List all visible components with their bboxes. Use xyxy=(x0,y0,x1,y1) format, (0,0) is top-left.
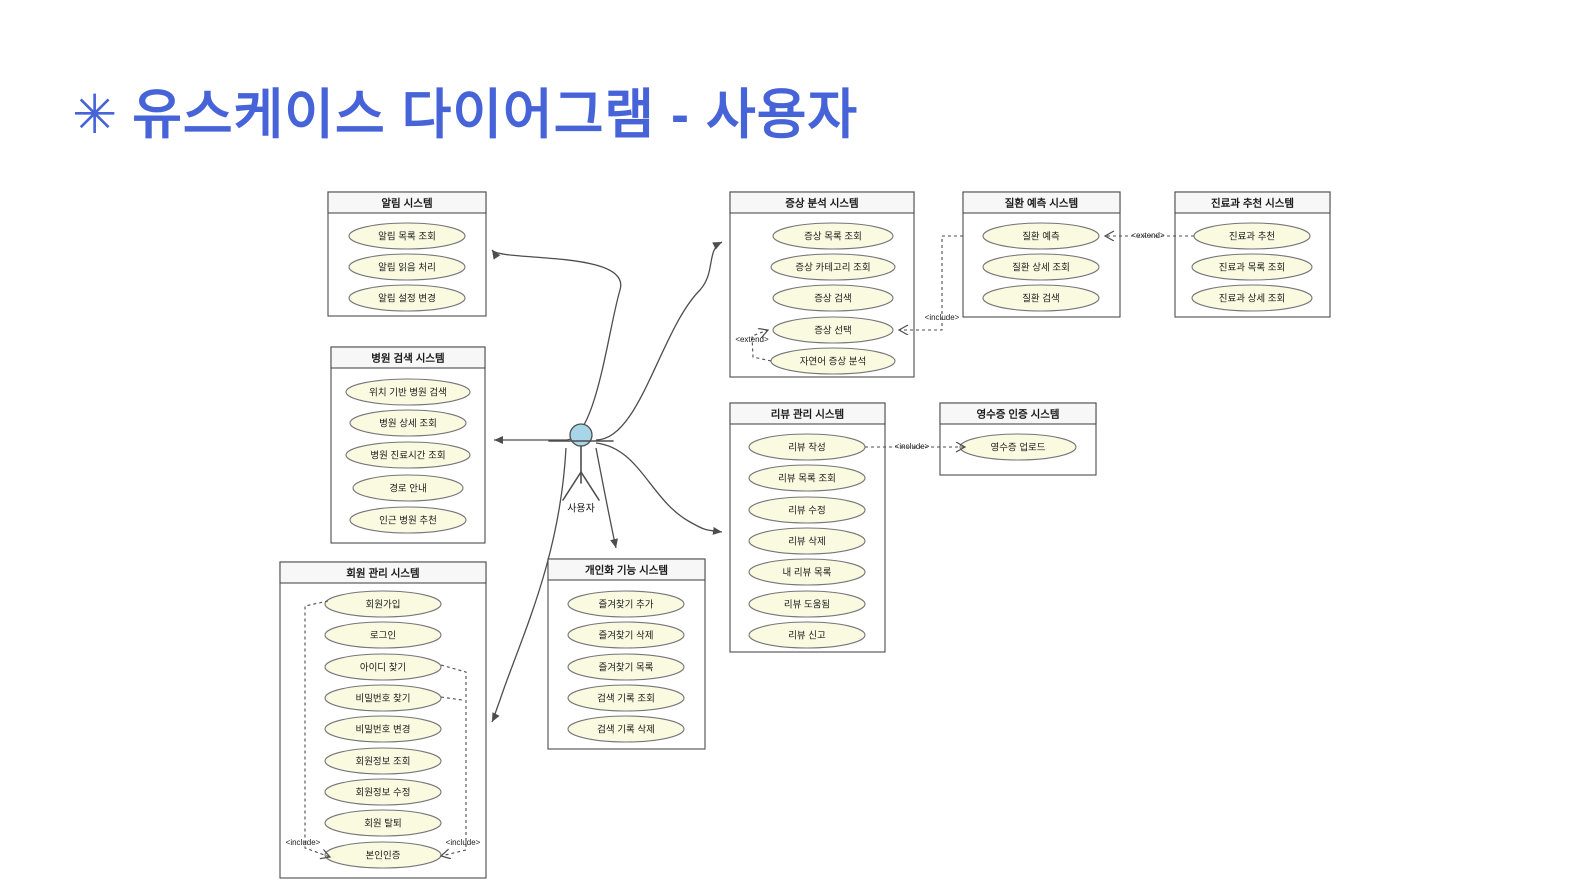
usecase-label: 리뷰 목록 조회 xyxy=(778,474,836,485)
stereotype-label-rel-include-disease-symptom: <include> xyxy=(925,313,960,322)
usecase-label: 아이디 찾기 xyxy=(360,663,406,674)
system-box-title-receipt-verification: 영수증 인증 시스템 xyxy=(976,407,1059,420)
usecase-diagram: 알림 시스템알림 목록 조회알림 읽음 처리알림 설정 변경병원 검색 시스템위… xyxy=(0,0,1591,888)
usecase-label: 로그인 xyxy=(370,631,396,642)
usecase-label: 병원 상세 조회 xyxy=(379,419,437,430)
system-box-disease-prediction: 질환 예측 시스템질환 예측질환 상세 조회질환 검색 xyxy=(963,192,1120,317)
usecase-department-recommendation-1[interactable]: 진료과 목록 조회 xyxy=(1192,254,1312,280)
usecase-label: 질환 예측 xyxy=(1022,231,1060,243)
usecase-notification-1[interactable]: 알림 읽음 처리 xyxy=(349,254,465,280)
system-box-notification: 알림 시스템알림 목록 조회알림 읽음 처리알림 설정 변경 xyxy=(328,192,486,316)
usecase-review-management-3[interactable]: 리뷰 삭제 xyxy=(749,528,865,554)
system-box-review-management: 리뷰 관리 시스템리뷰 작성리뷰 목록 조회리뷰 수정리뷰 삭제내 리뷰 목록리… xyxy=(730,403,885,652)
usecase-department-recommendation-0[interactable]: 진료과 추천 xyxy=(1194,223,1310,249)
usecase-disease-prediction-1[interactable]: 질환 상세 조회 xyxy=(983,254,1099,280)
system-box-personalization: 개인화 기능 시스템즐겨찾기 추가즐겨찾기 삭제즐겨찾기 목록검색 기록 조회검… xyxy=(548,559,705,749)
usecase-label: 회원정보 조회 xyxy=(355,757,410,768)
usecase-label: 회원가입 xyxy=(366,599,401,611)
usecase-label: 진료과 목록 조회 xyxy=(1219,263,1285,274)
usecase-label: 즐겨찾기 삭제 xyxy=(598,631,653,642)
system-box-title-personalization: 개인화 기능 시스템 xyxy=(585,563,668,576)
usecase-label: 알림 읽음 처리 xyxy=(378,262,436,274)
stereotype-label-rel-include-review-receipt: <include> xyxy=(895,442,930,451)
usecase-review-management-0[interactable]: 리뷰 작성 xyxy=(749,434,865,460)
usecase-label: 질환 상세 조회 xyxy=(1012,262,1070,274)
usecase-label: 알림 목록 조회 xyxy=(378,231,436,243)
system-box-title-review-management: 리뷰 관리 시스템 xyxy=(771,407,844,420)
usecase-symptom-analysis-4[interactable]: 자연어 증상 분석 xyxy=(771,348,895,374)
system-box-title-hospital-search: 병원 검색 시스템 xyxy=(371,351,444,364)
usecase-label: 비밀번호 변경 xyxy=(355,724,410,736)
usecase-label: 리뷰 작성 xyxy=(788,443,826,454)
usecase-label: 경로 안내 xyxy=(389,483,427,495)
usecase-label: 영수증 업로드 xyxy=(990,442,1045,454)
usecase-hospital-search-2[interactable]: 병원 진료시간 조회 xyxy=(346,442,470,468)
usecase-symptom-analysis-3[interactable]: 증상 선택 xyxy=(773,317,893,343)
usecase-label: 내 리뷰 목록 xyxy=(783,568,832,579)
usecase-notification-2[interactable]: 알림 설정 변경 xyxy=(349,285,465,311)
usecase-label: 회원정보 수정 xyxy=(355,788,410,799)
usecase-receipt-verification-0[interactable]: 영수증 업로드 xyxy=(960,434,1076,460)
usecase-label: 검색 기록 삭제 xyxy=(597,724,655,736)
system-box-title-disease-prediction: 질환 예측 시스템 xyxy=(1005,196,1078,209)
actor-label: 사용자 xyxy=(567,503,595,515)
usecase-symptom-analysis-1[interactable]: 증상 카테고리 조회 xyxy=(771,254,895,280)
usecase-label: 리뷰 삭제 xyxy=(788,537,826,548)
usecase-member-management-1[interactable]: 로그인 xyxy=(325,622,441,648)
usecase-member-management-5[interactable]: 회원정보 조회 xyxy=(325,748,441,774)
association-actor-to-personalization xyxy=(596,448,616,548)
usecase-member-management-6[interactable]: 회원정보 수정 xyxy=(325,779,441,805)
usecase-label: 병원 진료시간 조회 xyxy=(370,451,445,462)
usecase-department-recommendation-2[interactable]: 진료과 상세 조회 xyxy=(1192,285,1312,311)
usecase-personalization-2[interactable]: 즐겨찾기 목록 xyxy=(568,654,684,680)
usecase-label: 검색 기록 조회 xyxy=(597,693,655,705)
usecase-review-management-4[interactable]: 내 리뷰 목록 xyxy=(749,559,865,585)
usecase-label: 인근 병원 추천 xyxy=(379,516,437,527)
usecase-label: 리뷰 수정 xyxy=(788,506,826,517)
usecase-label: 증상 선택 xyxy=(814,326,852,337)
usecase-label: 리뷰 도움됨 xyxy=(784,599,830,611)
usecase-label: 증상 목록 조회 xyxy=(804,232,862,243)
usecase-label: 즐겨찾기 목록 xyxy=(598,663,653,674)
usecase-member-management-2[interactable]: 아이디 찾기 xyxy=(325,654,441,680)
usecase-hospital-search-1[interactable]: 병원 상세 조회 xyxy=(350,410,466,436)
usecase-personalization-1[interactable]: 즐겨찾기 삭제 xyxy=(568,622,684,648)
usecase-disease-prediction-2[interactable]: 질환 검색 xyxy=(983,285,1099,311)
usecase-review-management-1[interactable]: 리뷰 목록 조회 xyxy=(749,465,865,491)
usecase-member-management-3[interactable]: 비밀번호 찾기 xyxy=(325,685,441,711)
system-box-title-notification: 알림 시스템 xyxy=(381,196,432,209)
usecase-personalization-3[interactable]: 검색 기록 조회 xyxy=(568,685,684,711)
stereotype-label-rel-extend-natural-symptom: <extend> xyxy=(735,335,769,344)
actor-user[interactable]: 사용자 xyxy=(549,424,613,515)
association-actor-to-notification xyxy=(492,250,621,440)
stereotype-label-rel-include-signup-auth: <include> xyxy=(286,838,321,847)
association-actor-to-symptom-analysis xyxy=(596,242,722,440)
stereotype-label-rel-include-findid-auth: <include> xyxy=(446,838,481,847)
usecase-label: 질환 검색 xyxy=(1022,293,1060,305)
system-box-hospital-search: 병원 검색 시스템위치 기반 병원 검색병원 상세 조회병원 진료시간 조회경로… xyxy=(331,347,485,543)
usecase-hospital-search-0[interactable]: 위치 기반 병원 검색 xyxy=(346,379,470,405)
actor-right-leg-line xyxy=(581,472,599,500)
usecase-personalization-4[interactable]: 검색 기록 삭제 xyxy=(568,716,684,742)
usecase-review-management-2[interactable]: 리뷰 수정 xyxy=(749,497,865,523)
usecase-member-management-7[interactable]: 회원 탈퇴 xyxy=(325,810,441,836)
usecase-label: 증상 검색 xyxy=(814,293,852,305)
usecase-label: 본인인증 xyxy=(366,851,401,862)
system-boxes-layer: 알림 시스템알림 목록 조회알림 읽음 처리알림 설정 변경병원 검색 시스템위… xyxy=(280,192,1330,878)
usecase-label: 진료과 추천 xyxy=(1229,232,1275,243)
stereotype-label-rel-extend-department-disease: <extend> xyxy=(1131,231,1165,240)
usecase-review-management-5[interactable]: 리뷰 도움됨 xyxy=(749,591,865,617)
system-box-department-recommendation: 진료과 추천 시스템진료과 추천진료과 목록 조회진료과 상세 조회 xyxy=(1175,192,1330,317)
usecase-label: 진료과 상세 조회 xyxy=(1219,294,1285,305)
usecase-label: 증상 카테고리 조회 xyxy=(795,263,870,274)
system-box-title-member-management: 회원 관리 시스템 xyxy=(346,566,419,579)
usecase-review-management-6[interactable]: 리뷰 신고 xyxy=(749,622,865,648)
usecase-label: 즐겨찾기 추가 xyxy=(598,600,653,611)
system-box-title-symptom-analysis: 증상 분석 시스템 xyxy=(785,196,858,209)
usecase-label: 자연어 증상 분석 xyxy=(800,357,866,368)
usecase-member-management-0[interactable]: 회원가입 xyxy=(325,591,441,617)
actor-left-leg-line xyxy=(563,472,581,500)
usecase-hospital-search-3[interactable]: 경로 안내 xyxy=(353,475,463,501)
usecase-label: 비밀번호 찾기 xyxy=(355,693,410,705)
usecase-label: 알림 설정 변경 xyxy=(378,293,436,305)
system-box-symptom-analysis: 증상 분석 시스템증상 목록 조회증상 카테고리 조회증상 검색증상 선택자연어… xyxy=(730,192,914,377)
usecase-disease-prediction-0[interactable]: 질환 예측 xyxy=(983,223,1099,249)
actor-head-icon xyxy=(570,424,592,446)
usecase-member-management-4[interactable]: 비밀번호 변경 xyxy=(325,716,441,742)
usecase-symptom-analysis-2[interactable]: 증상 검색 xyxy=(773,285,893,311)
usecase-personalization-0[interactable]: 즐겨찾기 추가 xyxy=(568,591,684,617)
usecase-symptom-analysis-0[interactable]: 증상 목록 조회 xyxy=(773,223,893,249)
association-actor-to-review-management xyxy=(596,443,722,532)
system-box-title-department-recommendation: 진료과 추천 시스템 xyxy=(1211,196,1294,209)
usecase-member-management-8[interactable]: 본인인증 xyxy=(325,842,441,868)
usecase-label: 회원 탈퇴 xyxy=(364,818,402,830)
usecase-label: 리뷰 신고 xyxy=(788,631,826,642)
system-box-member-management: 회원 관리 시스템회원가입로그인아이디 찾기비밀번호 찾기비밀번호 변경회원정보… xyxy=(280,562,486,878)
system-box-receipt-verification: 영수증 인증 시스템영수증 업로드 xyxy=(940,403,1096,475)
usecase-notification-0[interactable]: 알림 목록 조회 xyxy=(349,223,465,249)
usecase-label: 위치 기반 병원 검색 xyxy=(369,387,447,399)
usecase-hospital-search-4[interactable]: 인근 병원 추천 xyxy=(350,507,466,533)
